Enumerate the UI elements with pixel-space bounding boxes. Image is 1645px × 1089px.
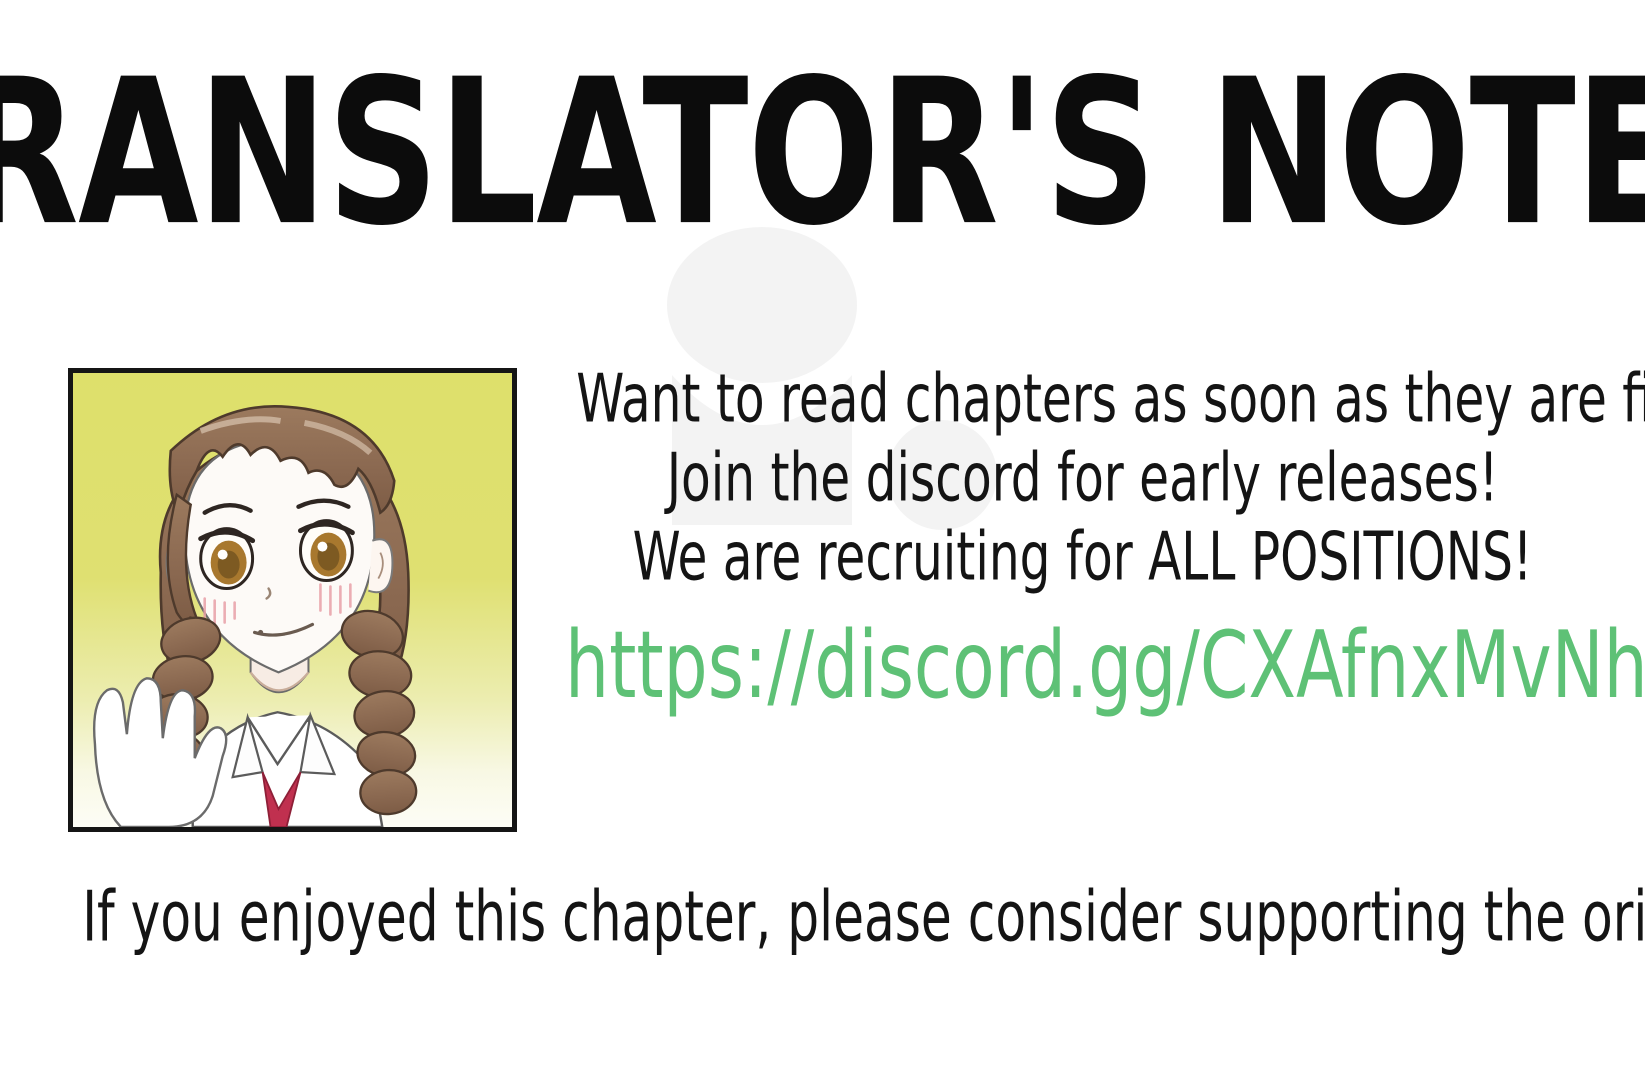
main-content-row: Want to read chapters as soon as they ar… [0,360,1645,850]
footer-container: If you enjoyed this chapter, please cons… [0,880,1645,954]
translator-notes-page: { "page": { "title": "TRANSLATOR'S NOTES… [0,0,1645,1089]
note-line-2: Join the discord for early releases! [576,434,1589,523]
discord-invite-link[interactable]: https://discord.gg/CXAfnxMvNh [565,611,1600,720]
manga-panel-image [68,368,517,832]
girl-illustration [73,373,512,827]
note-line-1: Want to read chapters as soon as they ar… [576,355,1589,444]
page-title: TRANSLATOR'S NOTES [0,53,1645,254]
note-line-3: We are recruiting for ALL POSITIONS! [576,514,1589,603]
notes-text-block: Want to read chapters as soon as they ar… [520,360,1645,715]
page-title-container: TRANSLATOR'S NOTES [0,58,1645,248]
support-author-message: If you enjoyed this chapter, please cons… [82,876,1563,959]
